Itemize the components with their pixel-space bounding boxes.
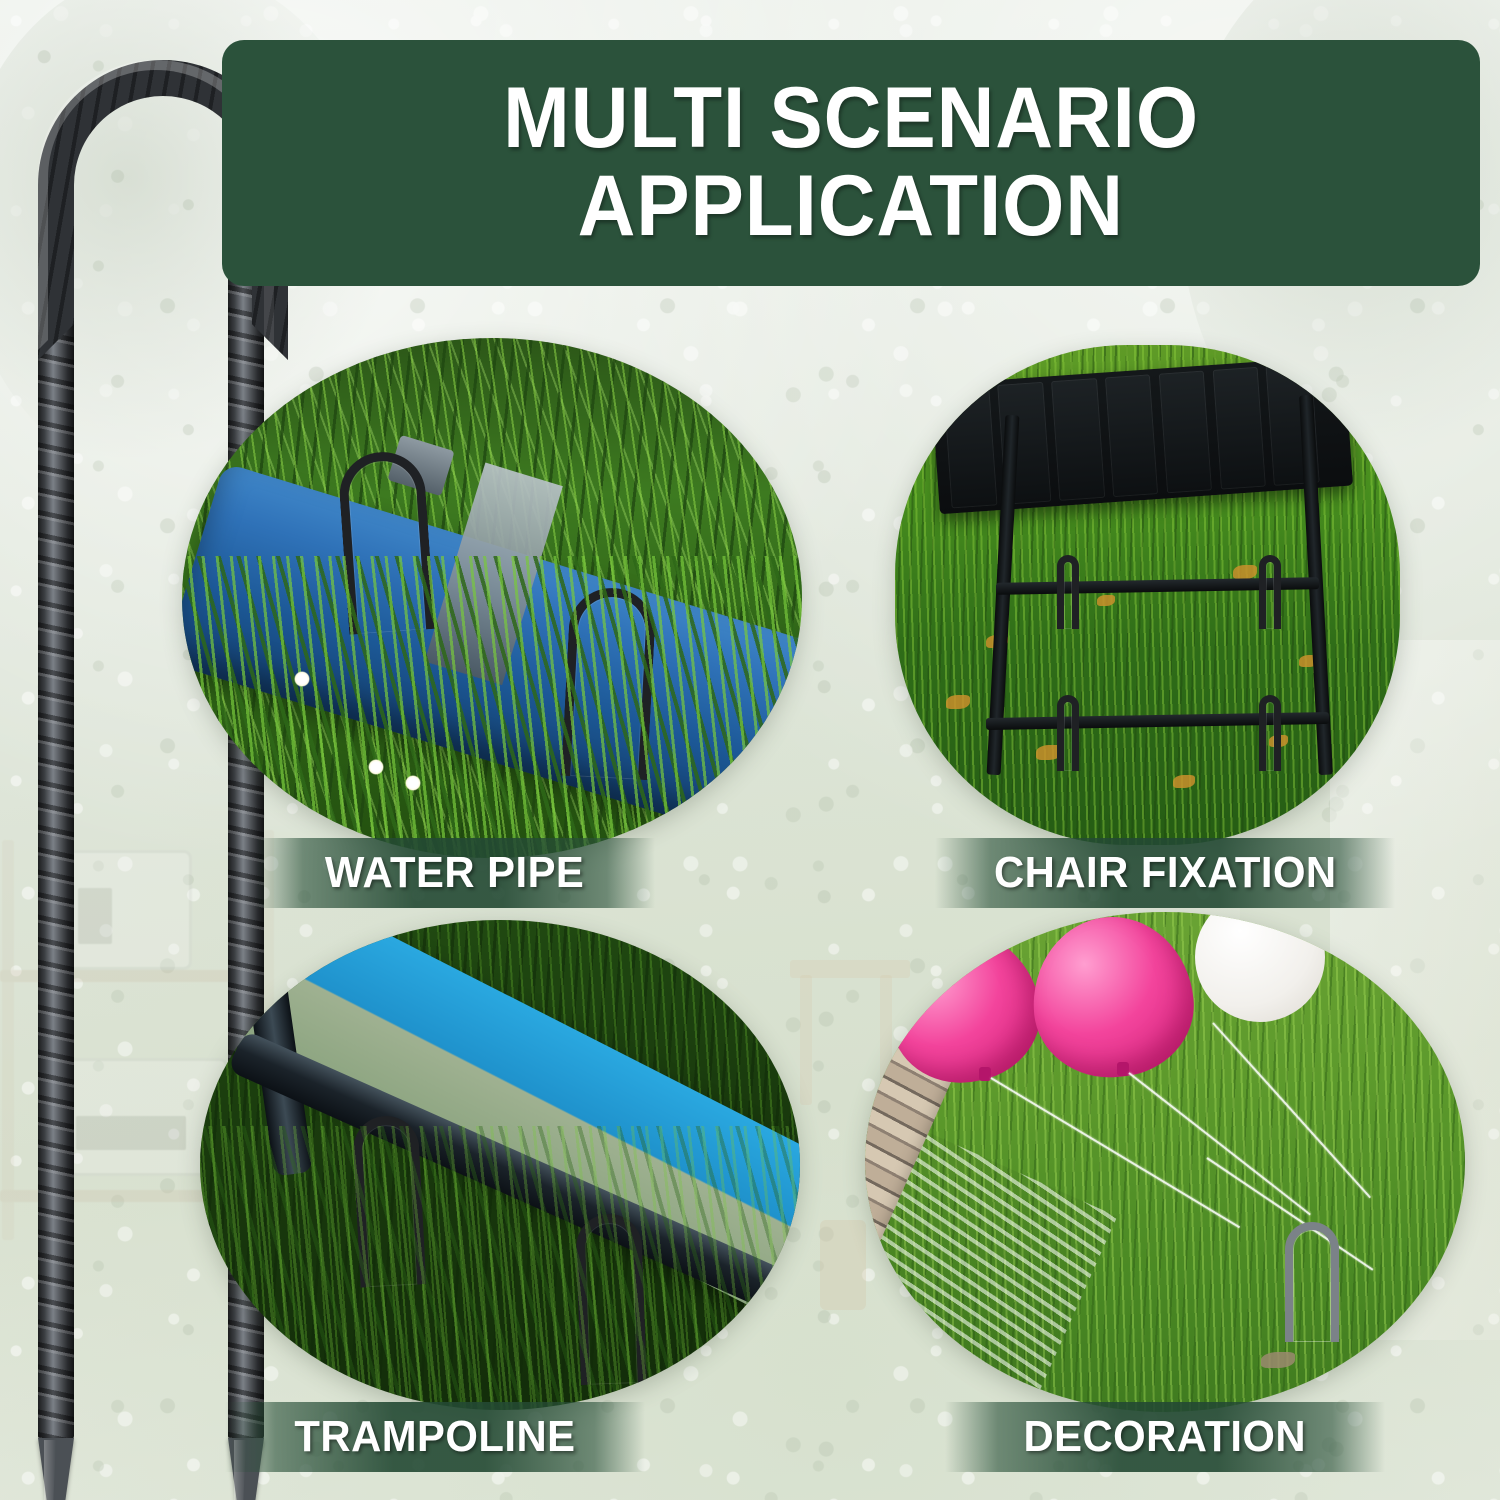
label-trampoline: TRAMPOLINE — [294, 1412, 575, 1462]
rebar-stake-bench-4 — [1259, 695, 1281, 771]
balloon-knot-right — [1117, 1062, 1129, 1076]
bench-slat-4 — [1105, 374, 1159, 496]
label-decoration: DECORATION — [1024, 1412, 1307, 1462]
photo-water-pipe[interactable] — [182, 338, 802, 858]
rebar-left-leg-texture — [38, 210, 74, 1440]
rebar-stake-bench-1 — [1057, 555, 1079, 629]
wood-chip — [1261, 1352, 1295, 1368]
photo-chair-fixation-content — [895, 345, 1400, 845]
foreground-grass — [182, 556, 802, 858]
label-band-trampoline: TRAMPOLINE — [225, 1402, 645, 1472]
fallen-leaf-2 — [1097, 595, 1115, 606]
fallen-leaf-8 — [946, 695, 970, 709]
background-lantern — [820, 1220, 866, 1310]
photo-decoration-content — [865, 912, 1465, 1412]
infographic-canvas: MULTI SCENARIO APPLICATION — [0, 0, 1500, 1500]
daisy-flower-3 — [294, 671, 310, 687]
daisy-flower-2 — [405, 775, 421, 791]
rebar-stake-bench-3 — [1057, 695, 1079, 771]
label-band-decoration: DECORATION — [945, 1402, 1385, 1472]
bench-slat-1 — [944, 386, 998, 508]
photo-chair-fixation[interactable] — [895, 345, 1400, 845]
shelf-post-left — [2, 840, 14, 1240]
fallen-leaf-6 — [1173, 775, 1195, 788]
balloon-knot-left — [979, 1067, 991, 1081]
photo-trampoline-content — [200, 920, 800, 1410]
photo-decoration[interactable] — [865, 912, 1465, 1412]
bench-slat-6 — [1213, 367, 1267, 489]
rebar-left-leg — [38, 210, 74, 1440]
label-water-pipe: WATER PIPE — [325, 848, 584, 898]
trampoline-foreground-grass — [200, 1126, 800, 1410]
label-chair-fixation: CHAIR FIXATION — [994, 848, 1337, 898]
rebar-left-tip — [38, 1438, 74, 1500]
photo-water-pipe-content — [182, 338, 802, 858]
bench-slat-3 — [1052, 378, 1106, 500]
background-camp-chair-leg — [800, 975, 812, 1105]
photo-trampoline[interactable] — [200, 920, 800, 1410]
title-line-1: MULTI SCENARIO — [503, 75, 1199, 163]
bench-slat-5 — [1159, 371, 1213, 493]
title-line-2: APPLICATION — [578, 163, 1124, 251]
title-banner: MULTI SCENARIO APPLICATION — [222, 40, 1480, 286]
rebar-stake-bench-2 — [1259, 555, 1281, 629]
label-band-chair-fixation: CHAIR FIXATION — [935, 838, 1395, 908]
label-band-water-pipe: WATER PIPE — [255, 838, 655, 908]
u-shaped-ground-stake — [1285, 1222, 1339, 1342]
